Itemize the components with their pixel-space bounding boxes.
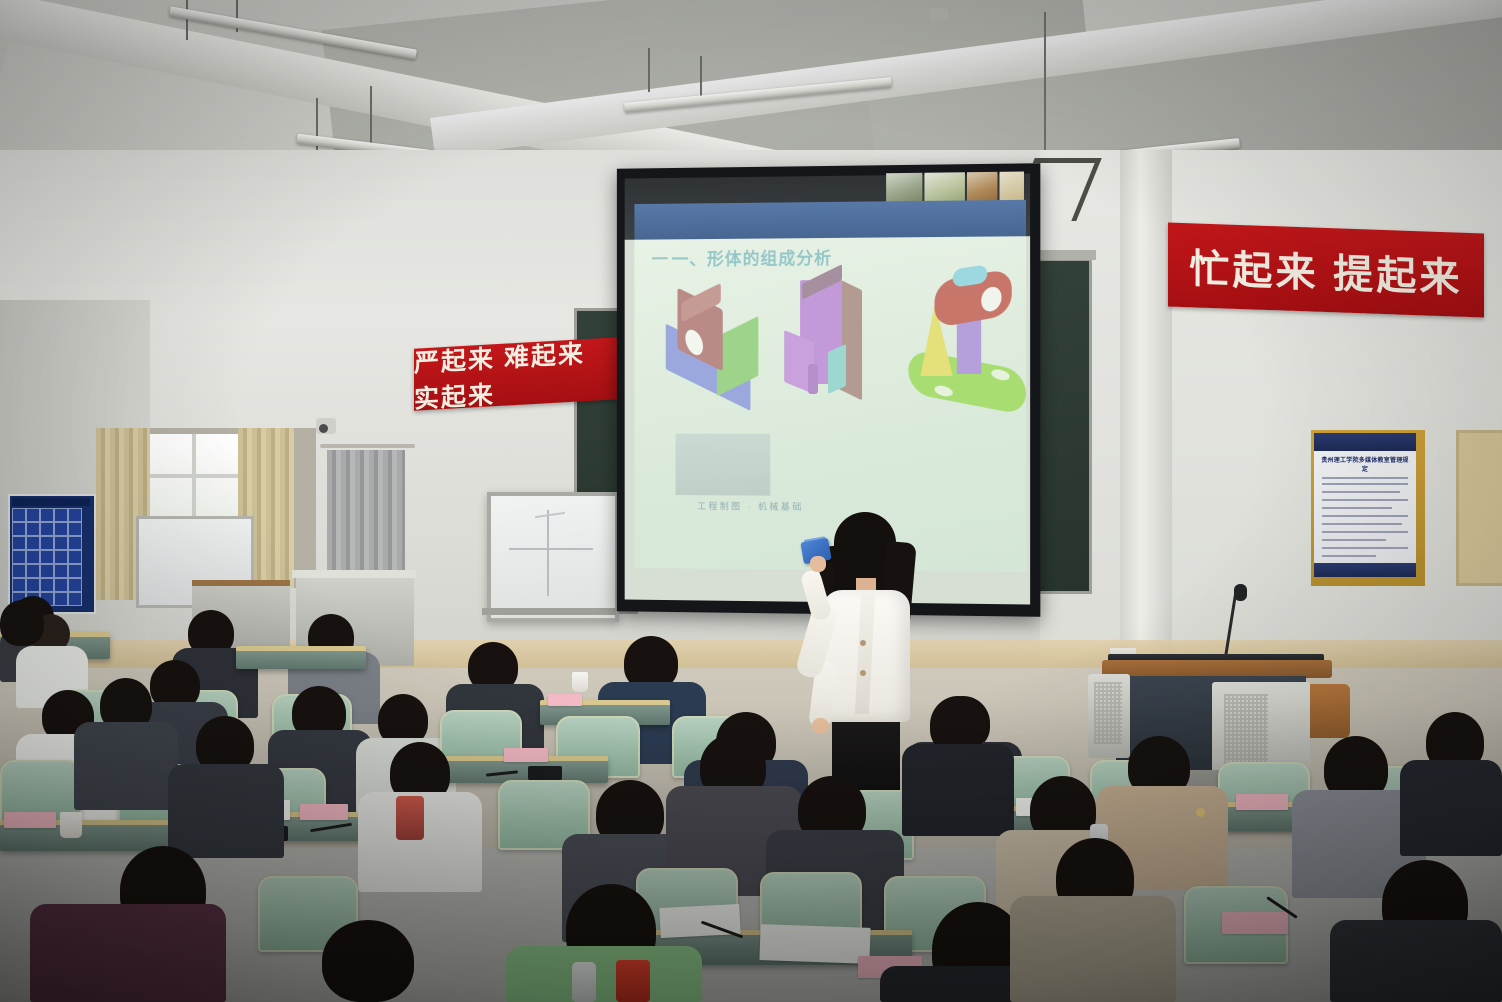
- paper-cup: [60, 812, 82, 838]
- poster-text-line: [1322, 491, 1400, 493]
- document-stack: [759, 924, 870, 964]
- poster-text-line: [1322, 523, 1402, 525]
- slide-model-rib-block: [780, 273, 900, 414]
- attendee-head: [322, 920, 414, 1002]
- slide-model-boss-base: [904, 267, 1026, 419]
- poster-header: [1314, 433, 1416, 451]
- cabinet-top: [292, 570, 416, 578]
- banner-right: 忙起来 提起来: [1168, 222, 1484, 317]
- poster-text-line: [1322, 515, 1408, 517]
- red-thermos: [616, 960, 650, 1002]
- slide-footer-text: 工程制图 · 机械基础: [697, 499, 804, 513]
- attendee-torso: [30, 904, 226, 1002]
- lectern-speaker-left: [1088, 674, 1130, 758]
- lectern-wood-right: [1304, 684, 1350, 738]
- attendee-torso: [74, 722, 178, 810]
- handout-pink: [504, 748, 548, 762]
- ceiling-fixture-mount: [930, 8, 948, 20]
- whiteboard-sketch-axis-v: [547, 510, 549, 596]
- speaker-grille: [1224, 694, 1268, 768]
- handout-pink: [548, 694, 582, 706]
- water-bottle: [572, 962, 596, 1002]
- microphone-icon: [1234, 584, 1247, 601]
- attendee-head: [0, 600, 44, 646]
- classroom-photo: 严起来 难起来 实起来 忙起来 提起来 贵州理工学院 GUIZHOU INSTI…: [0, 0, 1502, 1002]
- blazer-button: [860, 670, 866, 676]
- poster-text-line: [1322, 531, 1408, 533]
- handout-pink: [1222, 912, 1288, 934]
- paper-cup: [572, 672, 588, 692]
- light-rod: [370, 86, 372, 144]
- attendee-torso: [1010, 896, 1176, 1002]
- poster-text-line: [1322, 539, 1386, 541]
- curtain-rod: [320, 444, 415, 448]
- whiteboard-main: [487, 492, 619, 622]
- speaker-grille: [1094, 682, 1122, 744]
- poster-footer: [1314, 563, 1416, 577]
- wall-regulations-poster: 贵州理工学院多媒体教室管理规定: [1311, 430, 1425, 586]
- desk-row1: [236, 646, 366, 669]
- attendee-torso: [1330, 920, 1502, 1002]
- banner-left: 严起来 难起来 实起来: [414, 337, 618, 410]
- poster-text-line: [1322, 507, 1392, 509]
- instructor-hand-lowered: [812, 718, 829, 734]
- blazer-button: [860, 640, 866, 646]
- model-face: [717, 316, 759, 396]
- light-rod: [648, 48, 650, 92]
- model-face: [808, 364, 818, 394]
- jacket-graphic: [396, 796, 424, 840]
- poster-text-line: [1322, 555, 1376, 557]
- poster-title: 贵州理工学院多媒体教室管理规定: [1320, 455, 1410, 473]
- attendee-torso: [1400, 760, 1502, 856]
- slide-title: 一、形体的组成分析: [672, 244, 833, 270]
- light-rod: [700, 56, 702, 96]
- slide-title-dash: [652, 257, 668, 259]
- poster-text-line: [1322, 499, 1408, 501]
- whiteboard-sketch-axis-h: [509, 548, 593, 550]
- handout-pink: [1236, 794, 1288, 810]
- smartphone: [528, 766, 562, 780]
- instructor-hand-raised: [810, 556, 826, 572]
- handout-pink: [4, 812, 56, 828]
- light-rod: [186, 0, 188, 40]
- model-face: [828, 344, 846, 394]
- handout-pink: [300, 804, 348, 820]
- light-rod: [1044, 12, 1046, 152]
- wall-frame-secondary: [1456, 430, 1502, 586]
- whiteboard-stand: [482, 608, 616, 615]
- slide-footer-image: [676, 434, 771, 496]
- attendee-torso: [902, 744, 1014, 836]
- camera-lens-icon: [319, 424, 328, 433]
- whiteboard-sketch-label: [535, 512, 565, 518]
- poster-text-line: [1322, 483, 1408, 485]
- wall-grid-chart: [8, 494, 96, 614]
- poster-inner: 贵州理工学院多媒体教室管理规定: [1314, 433, 1416, 577]
- jacket-button: [1196, 808, 1205, 817]
- attendee-torso: [168, 764, 284, 858]
- slide-model-bracket: [662, 290, 780, 410]
- poster-text-line: [1322, 547, 1408, 549]
- poster-text-line: [1322, 477, 1408, 479]
- attendee-torso: [506, 946, 702, 1002]
- wall-pillar: [1120, 150, 1172, 670]
